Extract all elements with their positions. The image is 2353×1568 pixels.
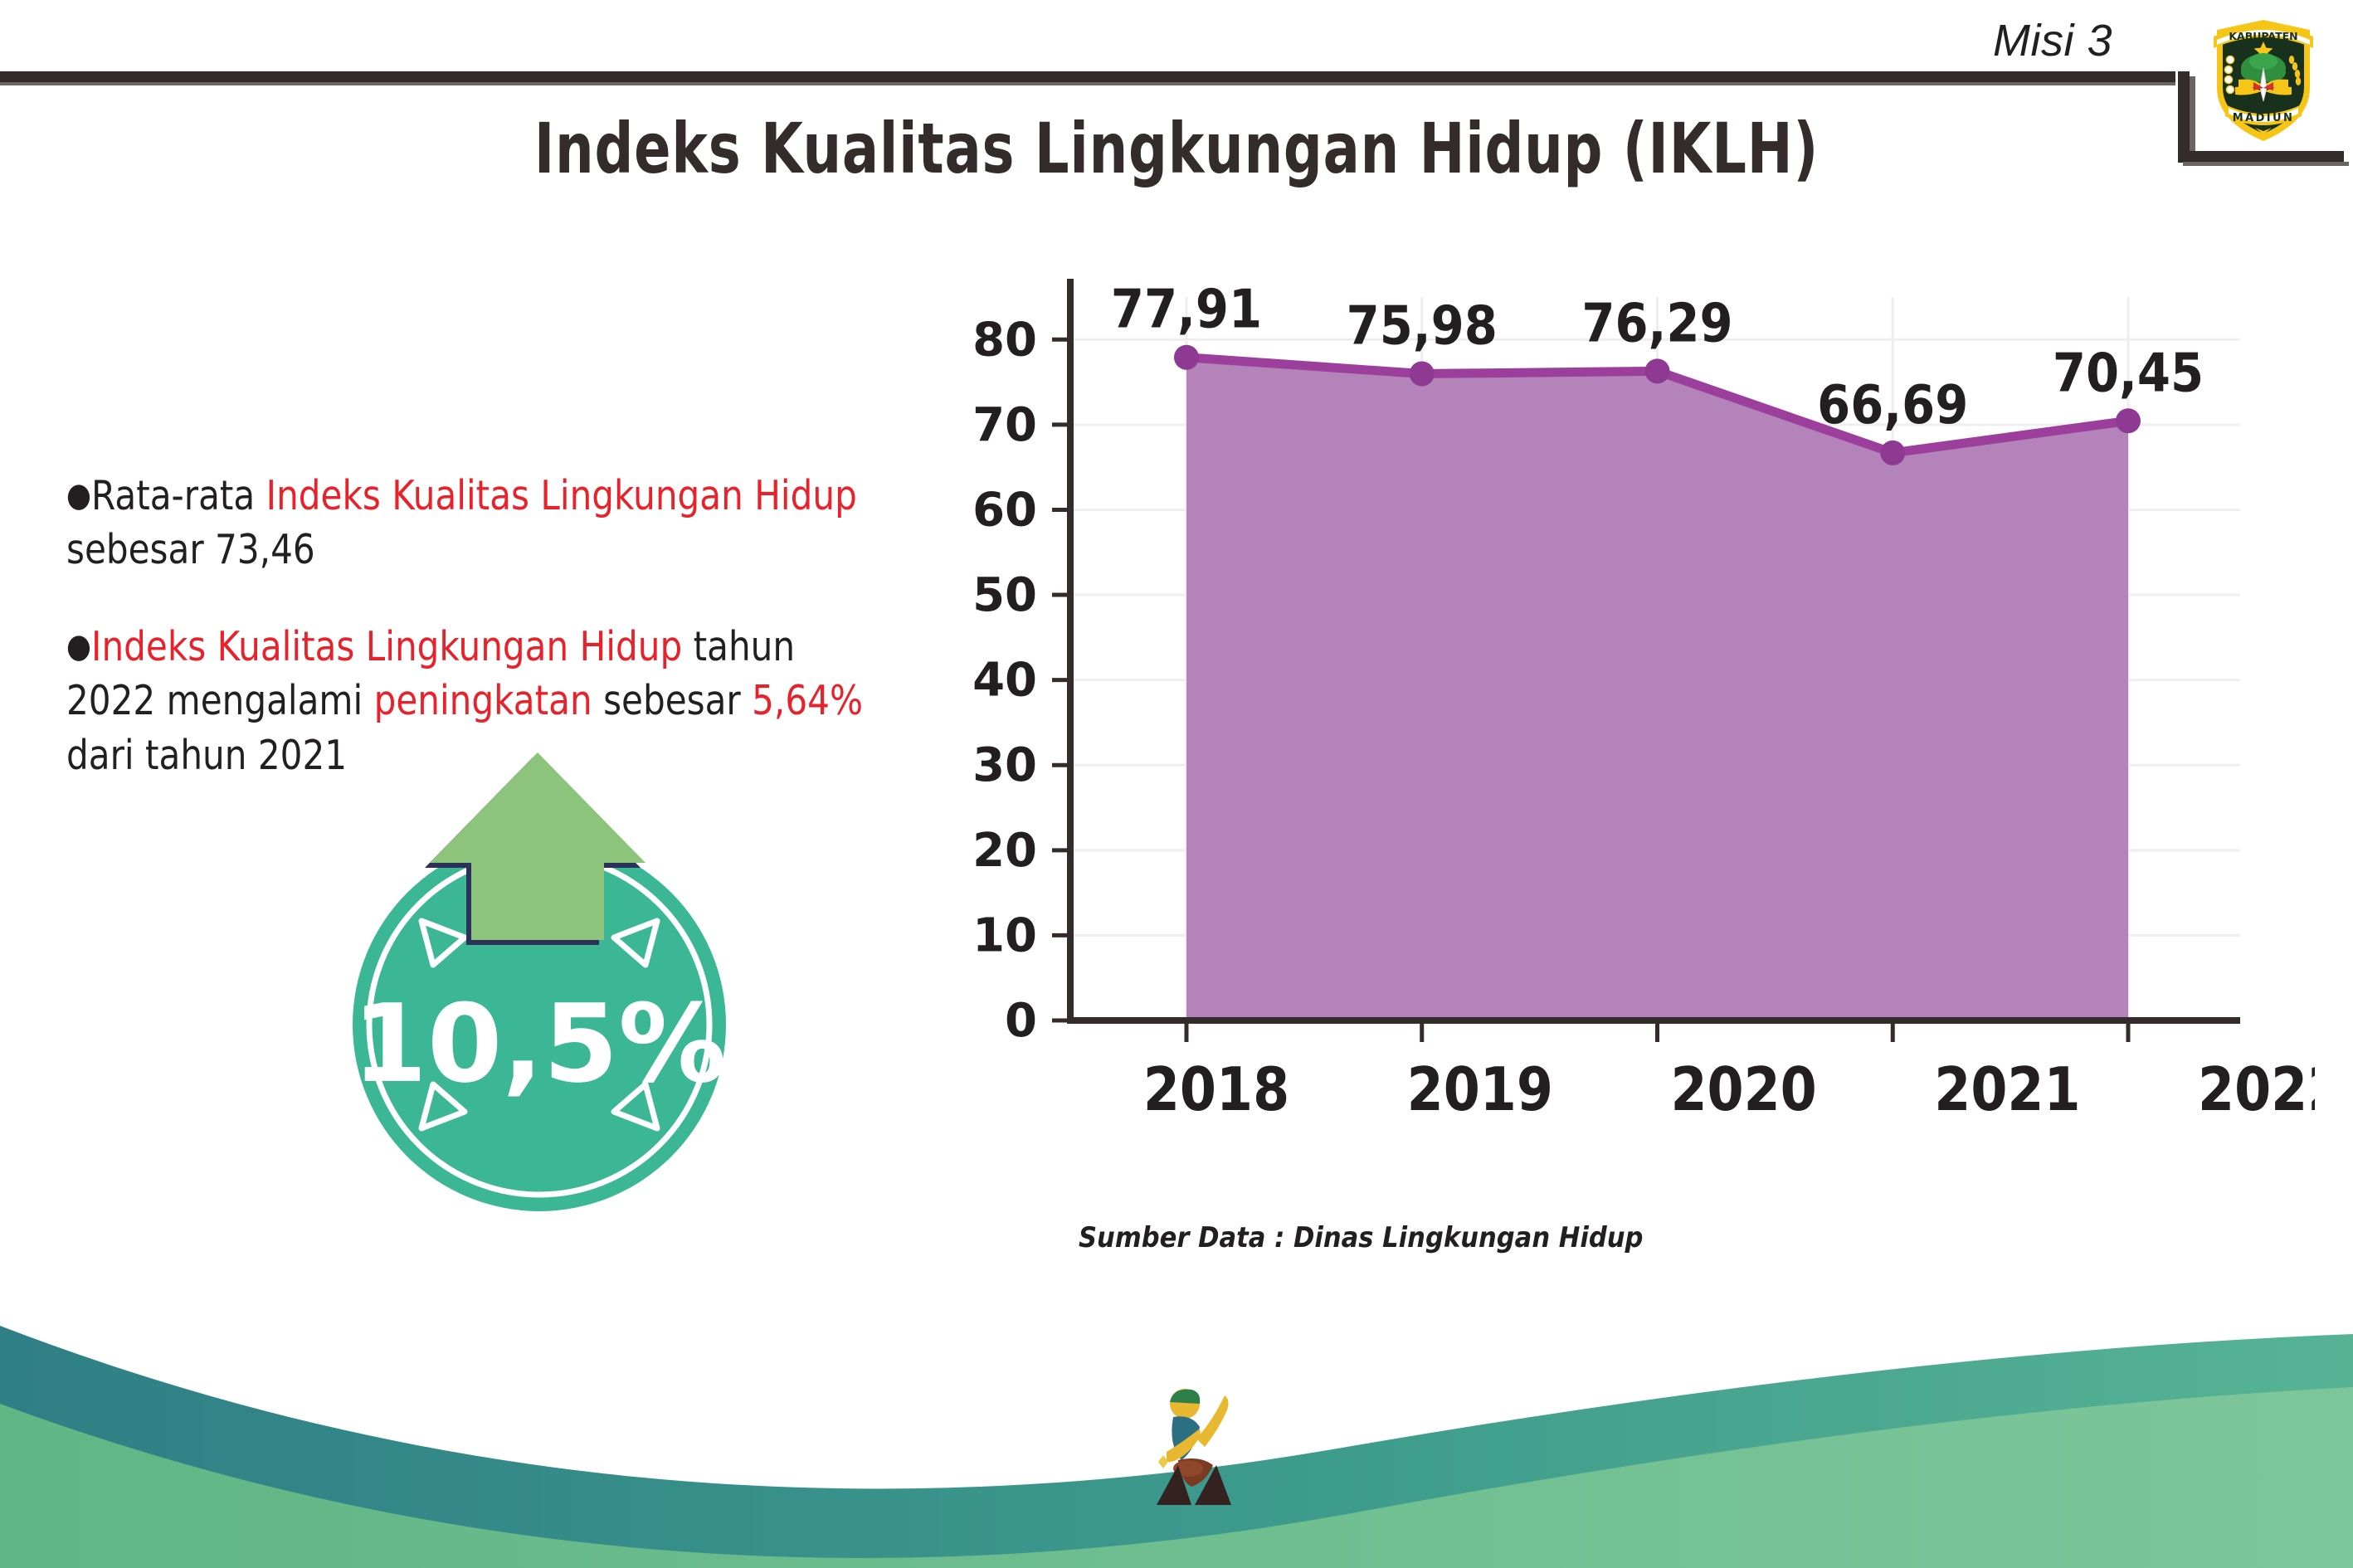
- x-tick-labels: 20182019202020212022: [1143, 1054, 2315, 1124]
- svg-text:KABUPATEN: KABUPATEN: [2229, 30, 2297, 42]
- bullet-average: ●Rata-rata Indeks Kualitas Lingkungan Hi…: [66, 469, 865, 577]
- bullet-average-seg-0: Rata-rata: [91, 472, 266, 519]
- y-tick-label: 40: [972, 654, 1037, 708]
- y-tick-label: 30: [972, 738, 1037, 792]
- bullet-average-seg-2: sebesar 73,46: [66, 526, 315, 573]
- x-tick-label: 2020: [1670, 1054, 1816, 1124]
- data-label: 70,45: [2053, 342, 2204, 404]
- area-fill: [1186, 358, 2128, 1020]
- x-tick-label: 2022: [2198, 1054, 2315, 1124]
- bullet-change-seg-5: dari tahun 2021: [66, 732, 347, 779]
- y-tick-label: 70: [972, 398, 1037, 452]
- y-tick-labels: 01020304050607080: [972, 313, 1037, 1048]
- madiun-statistics-figure-icon: [1145, 1379, 1253, 1512]
- bullet-change-seg-3: sebesar: [592, 677, 752, 724]
- bullet-change-seg-0: Indeks Kualitas Lingkungan Hidup: [91, 623, 682, 670]
- y-tick-label: 0: [1005, 994, 1037, 1048]
- header-bracket-horizontal: [2178, 151, 2344, 162]
- data-label: 75,98: [1347, 295, 1498, 358]
- y-tick-label: 20: [972, 824, 1037, 878]
- data-label: 77,91: [1111, 279, 1262, 341]
- y-tick-label: 50: [972, 568, 1037, 622]
- bullet-average-seg-1: Indeks Kualitas Lingkungan Hidup: [266, 472, 857, 519]
- page-title: Indeks Kualitas Lingkungan Hidup (IKLH): [259, 108, 2094, 189]
- iklh-area-chart: 01020304050607080 20182019202020212022 7…: [938, 274, 2315, 1203]
- y-tick-label: 10: [972, 908, 1037, 962]
- svg-text:MADIUN: MADIUN: [2233, 112, 2294, 124]
- header-bracket-vertical: [2178, 71, 2190, 163]
- data-label: 76,29: [1581, 292, 1732, 354]
- y-tick-label: 60: [972, 483, 1037, 537]
- chart-source-caption: Sumber Data : Dinas Lingkungan Hidup: [1079, 1221, 1643, 1254]
- bullet-dot-icon: ●: [66, 627, 91, 665]
- x-tick-label: 2019: [1407, 1054, 1553, 1124]
- growth-badge: 10,5%: [332, 751, 747, 1215]
- mission-label: Misi 3: [1993, 15, 2112, 66]
- bullet-dot-icon: ●: [66, 476, 91, 514]
- x-tick-label: 2021: [1934, 1054, 2080, 1124]
- badge-value: 10,5%: [352, 981, 726, 1107]
- x-tick-label: 2018: [1143, 1054, 1289, 1124]
- bullet-change-seg-4: 5,64%: [752, 677, 863, 724]
- y-tick-label: 80: [972, 313, 1037, 367]
- header-rule: [0, 71, 2175, 82]
- bullet-change-seg-2: peningkatan: [374, 677, 592, 724]
- kabupaten-madiun-crest-icon: KABUPATEN MADIUN: [2205, 8, 2321, 145]
- data-label: 66,69: [1817, 374, 1968, 436]
